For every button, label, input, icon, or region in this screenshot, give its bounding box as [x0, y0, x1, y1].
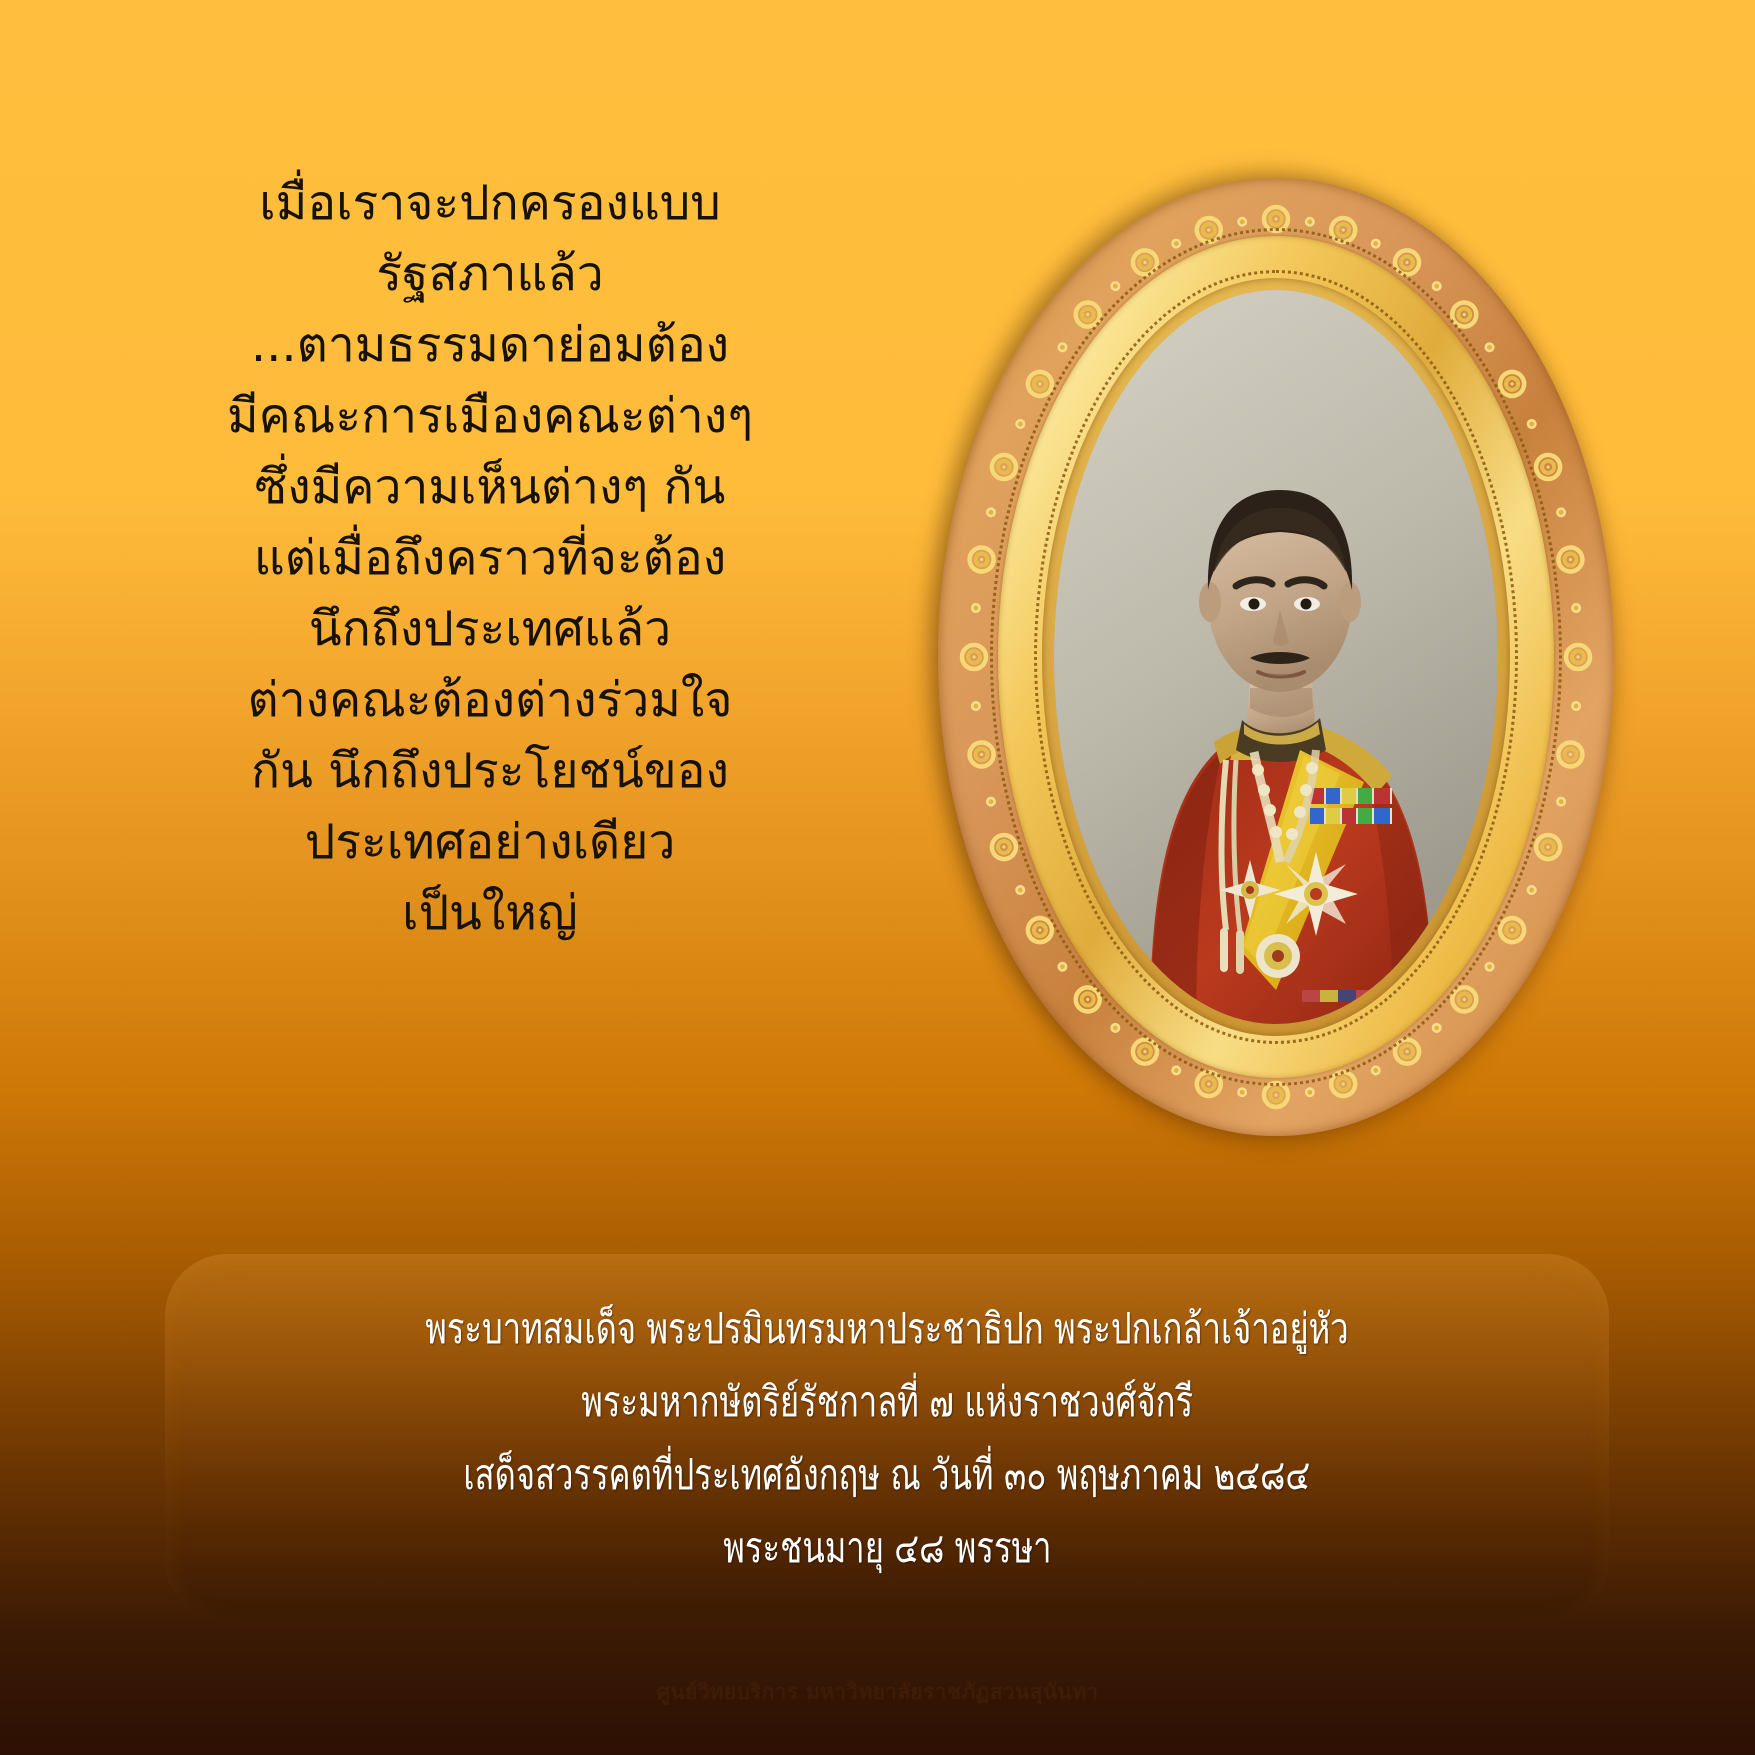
footer-credit: ศูนย์วิทยบริการ มหาวิทยาลัยราชภัฏสวนสุนั… — [0, 1676, 1755, 1709]
portrait-with-frame — [938, 178, 1614, 1136]
king-portrait-photo — [1054, 290, 1498, 1024]
quote-line: ซึ่งมีความเห็นต่างๆ กัน — [180, 452, 800, 523]
quote-line: มีคณะการเมืองคณะต่างๆ — [180, 381, 800, 452]
poster-canvas: เมื่อเราจะปกครองแบบ รัฐสภาแล้ว ...ตามธรร… — [0, 0, 1755, 1755]
caption-line: เสด็จสวรรคตที่ประเทศอังกฤษ ณ วันที่ ๓๐ พ… — [464, 1451, 1311, 1498]
quote-line: เป็นใหญ่ — [180, 878, 800, 949]
quote-line: นึกถึงประเทศแล้ว — [180, 594, 800, 665]
quote-line: ต่างคณะต้องต่างร่วมใจ — [180, 665, 800, 736]
quote-line: ...ตามธรรมดาย่อมต้อง — [180, 310, 800, 381]
caption-panel: พระบาทสมเด็จ พระปรมินทรมหาประชาธิปก พระป… — [165, 1254, 1609, 1622]
quote-line: รัฐสภาแล้ว — [180, 239, 800, 310]
quote-line: แต่เมื่อถึงคราวที่จะต้อง — [180, 523, 800, 594]
caption-line: พระบาทสมเด็จ พระปรมินทรมหาประชาธิปก พระป… — [425, 1305, 1348, 1352]
quote-line: เมื่อเราจะปกครองแบบ — [180, 168, 800, 239]
quote-block: เมื่อเราจะปกครองแบบ รัฐสภาแล้ว ...ตามธรร… — [180, 168, 800, 949]
quote-line: กัน นึกถึงประโยชน์ของ — [180, 736, 800, 807]
caption-line: พระมหากษัตริย์รัชกาลที่ ๗ แห่งราชวงศ์จัก… — [581, 1378, 1193, 1425]
quote-line: ประเทศอย่างเดียว — [180, 807, 800, 878]
caption-line: พระชนมายุ ๔๘ พรรษา — [723, 1524, 1051, 1571]
